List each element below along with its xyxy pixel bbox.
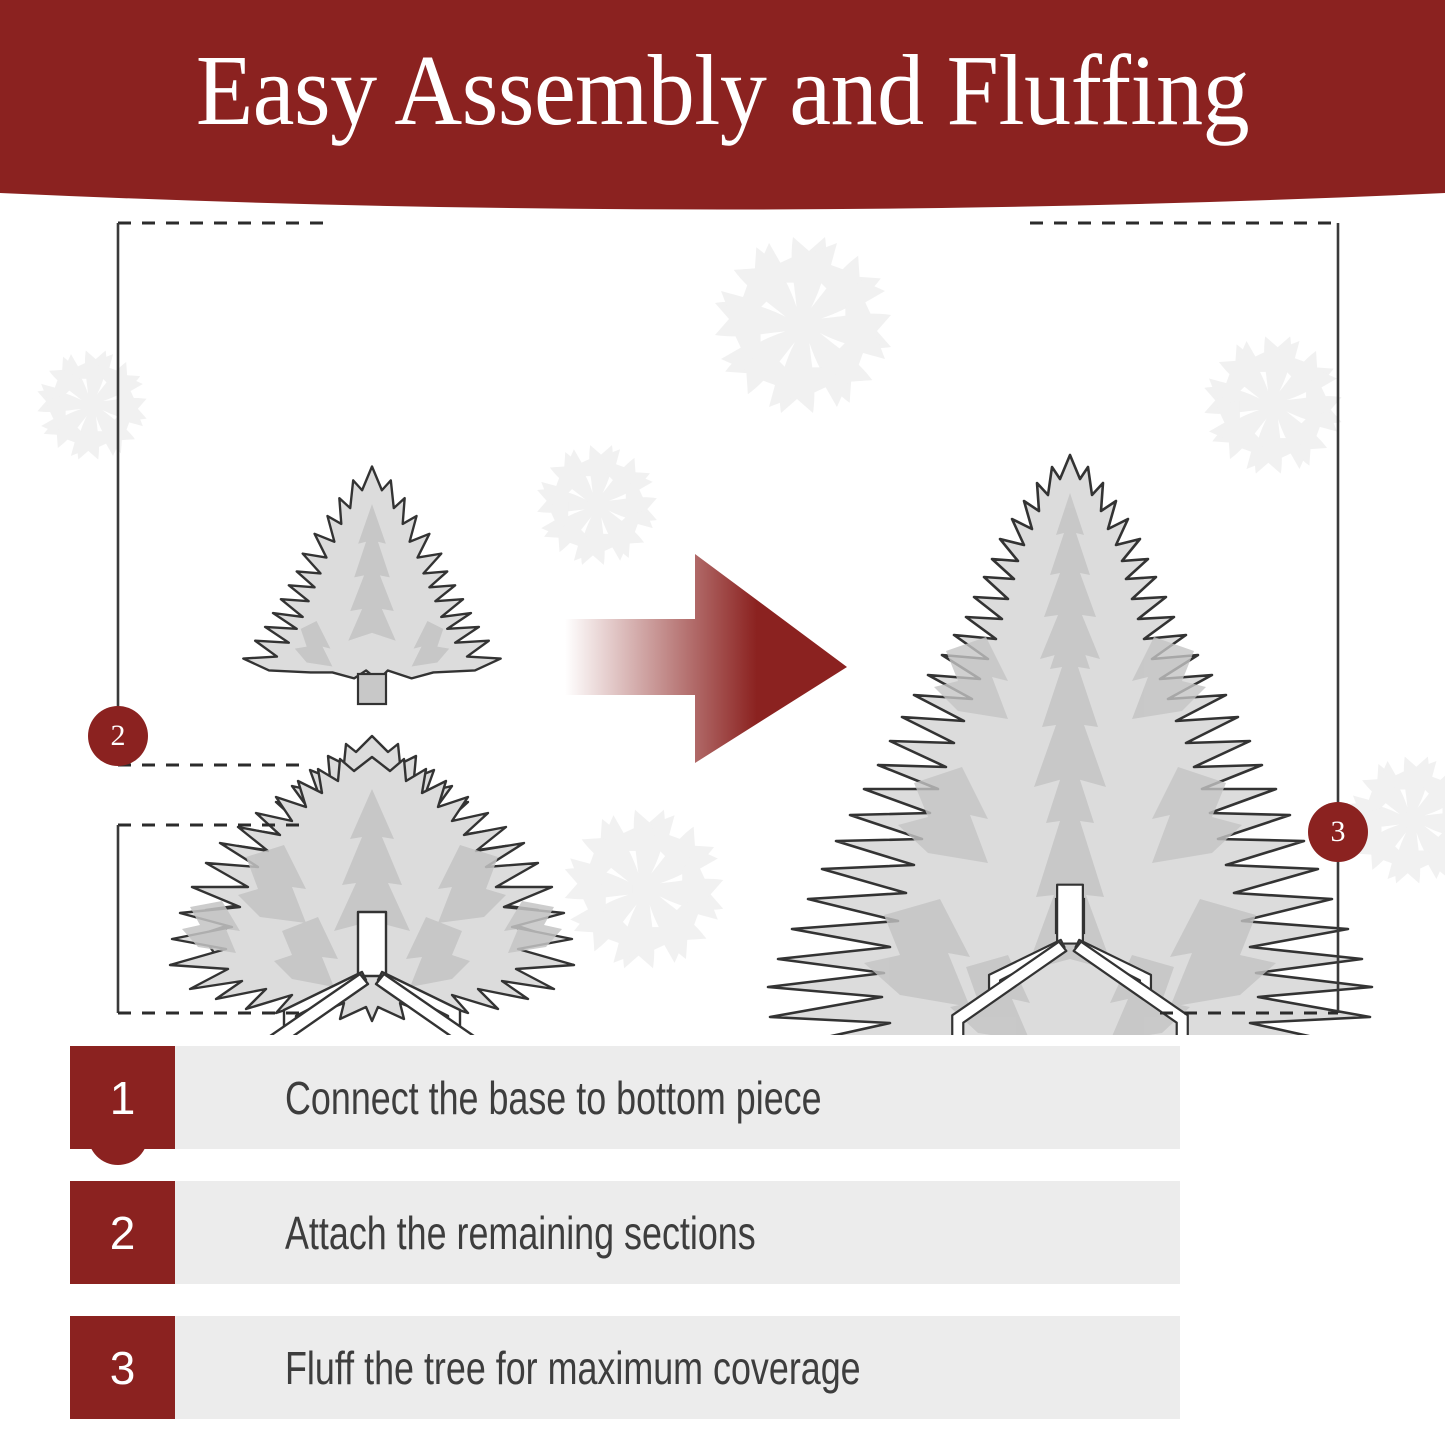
connector-tab	[358, 674, 386, 704]
step-text-3: Fluff the tree for maximum coverage	[285, 1316, 861, 1419]
tree-bottom-section	[170, 757, 574, 1021]
snowflake-icon	[1197, 329, 1349, 481]
step-text-2: Attach the remaining sections	[285, 1181, 756, 1284]
snowflake-icon	[556, 801, 732, 977]
tree-top-section	[243, 467, 500, 681]
illustration-area: 2 1 3	[0, 215, 1445, 1035]
infographic-stage: Easy Assembly and Fluffing	[0, 0, 1445, 1445]
right-arrow-icon	[565, 554, 847, 763]
transform-arrow	[565, 554, 847, 763]
step-number-1: 1	[70, 1046, 175, 1149]
disassembled-tree-group	[170, 467, 574, 1036]
callout-badge-3-label: 3	[1331, 815, 1346, 849]
step-number-2: 2	[70, 1181, 175, 1284]
callout-badge-2[interactable]: 2	[88, 706, 148, 766]
callout-badge-3[interactable]: 3	[1308, 802, 1368, 862]
snowflake-icon	[531, 439, 664, 572]
step-number-3: 3	[70, 1316, 175, 1419]
step-row-1: 1 Connect the base to bottom piece	[70, 1046, 1180, 1149]
assembled-tree-group	[768, 455, 1372, 1035]
snowflake-icon	[705, 227, 900, 422]
snowflake-icon	[31, 344, 152, 465]
assembled-tree	[768, 455, 1372, 1035]
step-row-2: 2 Attach the remaining sections	[70, 1181, 1180, 1284]
step-text-1: Connect the base to bottom piece	[285, 1046, 822, 1149]
header-band: Easy Assembly and Fluffing	[0, 0, 1445, 215]
page-title: Easy Assembly and Fluffing	[51, 0, 1395, 141]
callout-badge-2-label: 2	[111, 719, 126, 753]
steps-list: 1 Connect the base to bottom piece 2 Att…	[70, 1046, 1180, 1451]
step-row-3: 3 Fluff the tree for maximum coverage	[70, 1316, 1180, 1419]
illustration-svg	[0, 215, 1445, 1035]
